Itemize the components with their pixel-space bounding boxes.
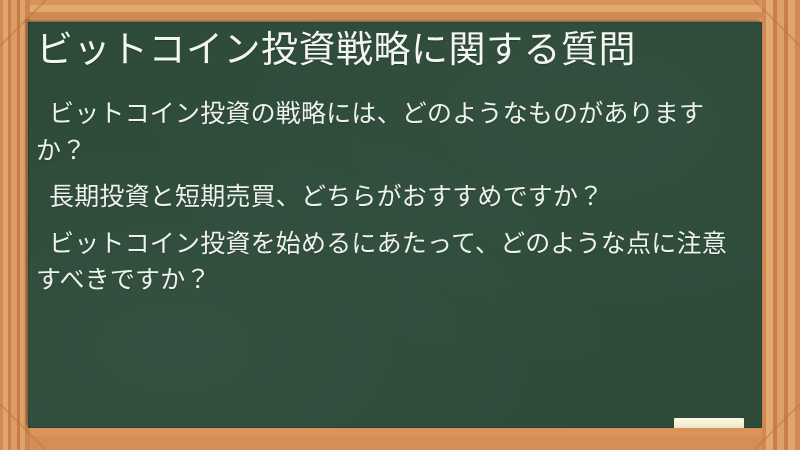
chalkboard-surface: ビットコイン投資戦略に関する質問 ビットコイン投資の戦略には、どのようなものがあ… xyxy=(28,22,762,428)
frame-rail-bottom xyxy=(0,428,800,450)
question-item: 長期投資と短期売買、どちらがおすすめですか？ xyxy=(36,179,752,216)
question-item: ビットコイン投資を始めるにあたって、どのような点に注意すべきですか？ xyxy=(36,226,752,299)
chalk-stick-icon xyxy=(674,418,744,428)
board-title: ビットコイン投資戦略に関する質問 xyxy=(36,28,752,72)
frame-rail-left xyxy=(0,0,30,450)
chalkboard-frame: ビットコイン投資戦略に関する質問 ビットコイン投資の戦略には、どのようなものがあ… xyxy=(0,0,800,450)
frame-rail-top xyxy=(0,0,800,24)
frame-rail-right xyxy=(762,0,800,450)
question-item: ビットコイン投資の戦略には、どのようなものがありますか？ xyxy=(36,96,752,169)
question-list: ビットコイン投資の戦略には、どのようなものがありますか？ 長期投資と短期売買、ど… xyxy=(36,96,752,309)
